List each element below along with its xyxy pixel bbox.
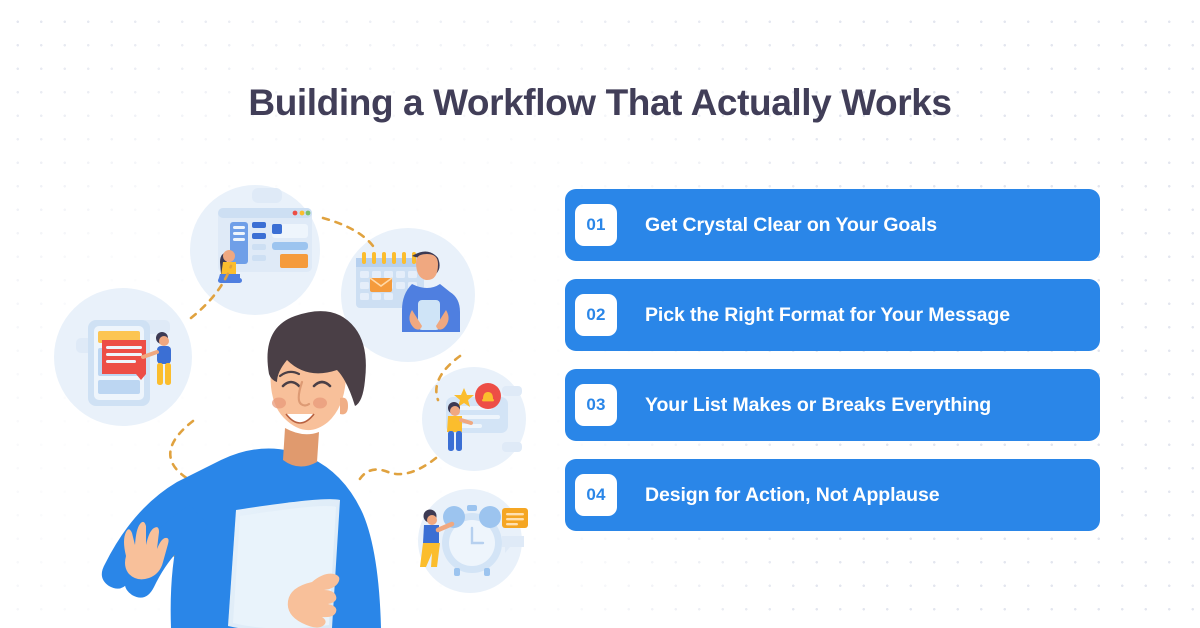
step-label: Get Crystal Clear on Your Goals	[645, 214, 937, 237]
step-number-badge: 04	[575, 474, 617, 516]
bubble-notification-bell-scene	[422, 367, 526, 471]
step-label: Design for Action, Not Applause	[645, 484, 939, 507]
step-row[interactable]: 02 Pick the Right Format for Your Messag…	[565, 279, 1100, 351]
bubble-dashboard-browser-scene	[190, 185, 320, 315]
step-row[interactable]: 03 Your List Makes or Breaks Everything	[565, 369, 1100, 441]
page-title: Building a Workflow That Actually Works	[0, 82, 1200, 124]
bubble-mobile-document-scene	[54, 288, 192, 426]
step-number-badge: 03	[575, 384, 617, 426]
step-row[interactable]: 01 Get Crystal Clear on Your Goals	[565, 189, 1100, 261]
step-label: Pick the Right Format for Your Message	[645, 304, 1010, 327]
step-number-badge: 01	[575, 204, 617, 246]
steps-list: 01 Get Crystal Clear on Your Goals 02 Pi…	[565, 189, 1100, 531]
step-number-badge: 02	[575, 294, 617, 336]
step-row[interactable]: 04 Design for Action, Not Applause	[565, 459, 1100, 531]
workflow-illustration	[40, 160, 560, 628]
step-label: Your List Makes or Breaks Everything	[645, 394, 991, 417]
bubble-alarm-clock-scene	[418, 489, 528, 593]
